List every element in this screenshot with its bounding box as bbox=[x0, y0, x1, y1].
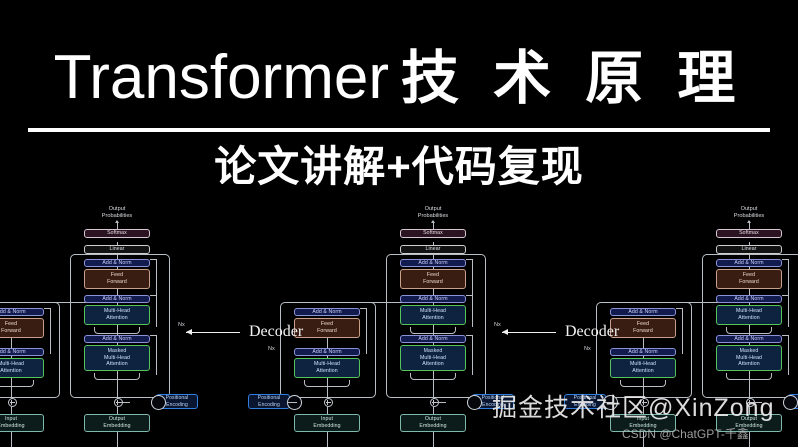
residual-arc-2 bbox=[726, 327, 772, 334]
feed-forward-box-enc: Feed Forward bbox=[0, 318, 44, 338]
softmax-box: Softmax bbox=[400, 229, 466, 238]
masked-multi-head-attention-box: Masked Multi-Head Attention bbox=[84, 345, 150, 371]
feed-forward-box-dec: Feed Forward bbox=[716, 269, 782, 289]
residual-bypass-top-1 bbox=[466, 259, 473, 260]
embed-line-3 bbox=[433, 432, 434, 447]
add-norm-box-enc-1: Add & Norm bbox=[610, 348, 676, 356]
output-arrow-icon bbox=[115, 220, 119, 223]
residual-arc-1 bbox=[726, 373, 772, 380]
add-norm-box-dec-3: Add & Norm bbox=[716, 259, 782, 267]
residual-arc-0 bbox=[0, 380, 34, 387]
linear-box: Linear bbox=[84, 245, 150, 254]
decoder-arrow-icon-1 bbox=[186, 332, 240, 333]
residual-bypass-top-2 bbox=[466, 295, 473, 296]
page-subtitle: 论文讲解+代码复现 bbox=[0, 140, 798, 194]
residual-bypass-1 bbox=[156, 259, 157, 295]
embed-line-1 bbox=[433, 406, 434, 414]
add-norm-box-dec-1: Add & Norm bbox=[84, 335, 150, 343]
title-cjk: 技 术 原 理 bbox=[389, 46, 744, 111]
feed-forward-box-dec: Feed Forward bbox=[400, 269, 466, 289]
title-divider bbox=[28, 128, 770, 132]
multi-head-attention-box-enc: Multi-Head Attention bbox=[0, 358, 44, 378]
decoder-callout-label-1: Decoder bbox=[249, 323, 303, 341]
add-norm-box-enc-2: Add & Norm bbox=[0, 308, 44, 316]
decoder-callout-2: Decoder bbox=[502, 323, 619, 341]
residual-bypass-top-2 bbox=[782, 295, 789, 296]
residual-bypass-1 bbox=[472, 259, 473, 295]
add-norm-box-dec-1: Add & Norm bbox=[716, 335, 782, 343]
title-latin: Transformer bbox=[54, 43, 389, 112]
residual-bypass-top-0 bbox=[360, 308, 367, 309]
softmax-box: Softmax bbox=[84, 229, 150, 238]
embed-line-2 bbox=[11, 432, 12, 447]
residual-bypass-top-3 bbox=[150, 335, 157, 336]
residual-add-icon-enc bbox=[8, 398, 17, 407]
output-embedding-box: Output Embedding bbox=[84, 414, 150, 432]
add-norm-box-dec-2: Add & Norm bbox=[400, 295, 466, 303]
residual-bypass-3 bbox=[788, 335, 789, 375]
add-norm-box-enc-2: Add & Norm bbox=[294, 308, 360, 316]
linear-box: Linear bbox=[400, 245, 466, 254]
residual-bypass-0 bbox=[682, 308, 683, 354]
feed-forward-box-enc: Feed Forward bbox=[294, 318, 360, 338]
input-embedding-box: Input Embedding bbox=[294, 414, 360, 432]
output-arrow-icon bbox=[431, 220, 435, 223]
add-norm-box-dec-2: Add & Norm bbox=[716, 295, 782, 303]
decoder-arrow-icon-2 bbox=[502, 332, 556, 333]
residual-bypass-2 bbox=[788, 295, 789, 327]
output-probabilities-label: Output Probabilities bbox=[390, 206, 476, 220]
residual-bypass-2 bbox=[156, 295, 157, 327]
multi-head-attention-box-dec: Multi-Head Attention bbox=[84, 305, 150, 325]
sine-wave-icon-dec bbox=[783, 395, 798, 410]
output-embedding-box: Output Embedding bbox=[400, 414, 466, 432]
add-norm-box-dec-3: Add & Norm bbox=[400, 259, 466, 267]
embed-line-2 bbox=[327, 432, 328, 447]
linear-box: Linear bbox=[716, 245, 782, 254]
sine-wave-icon-dec bbox=[467, 395, 482, 410]
decoder-callout-label-2: Decoder bbox=[565, 323, 619, 341]
residual-bypass-2 bbox=[472, 295, 473, 327]
feed-forward-box-dec: Feed Forward bbox=[84, 269, 150, 289]
residual-bypass-top-2 bbox=[150, 295, 157, 296]
residual-bypass-top-0 bbox=[44, 308, 51, 309]
embed-line-3 bbox=[117, 432, 118, 447]
residual-bypass-top-1 bbox=[150, 259, 157, 260]
residual-arc-1 bbox=[94, 373, 140, 380]
residual-bypass-top-0 bbox=[676, 308, 683, 309]
residual-bypass-0 bbox=[366, 308, 367, 354]
sine-wave-icon-dec bbox=[151, 395, 166, 410]
output-probabilities-label: Output Probabilities bbox=[706, 206, 792, 220]
add-norm-box-dec-3: Add & Norm bbox=[84, 259, 150, 267]
residual-bypass-top-3 bbox=[466, 335, 473, 336]
add-norm-box-enc-1: Add & Norm bbox=[294, 348, 360, 356]
input-embedding-box: Input Embedding bbox=[0, 414, 44, 432]
embed-line-0 bbox=[11, 406, 12, 414]
screenshot-canvas: SoftmaxLinearAdd & NormFeed ForwardAdd &… bbox=[0, 0, 798, 447]
embed-line-3 bbox=[749, 432, 750, 447]
residual-bypass-top-1 bbox=[782, 259, 789, 260]
positional-encoding-box-enc: Positional Encoding bbox=[248, 394, 290, 409]
embed-line-1 bbox=[117, 406, 118, 414]
output-arrow-icon bbox=[747, 220, 751, 223]
masked-multi-head-attention-box: Masked Multi-Head Attention bbox=[716, 345, 782, 371]
posenc-link-enc bbox=[287, 402, 297, 403]
nx-label-decoder: Nx bbox=[494, 322, 501, 328]
residual-arc-2 bbox=[410, 327, 456, 334]
softmax-box: Softmax bbox=[716, 229, 782, 238]
nx-label-encoder: Nx bbox=[268, 346, 275, 352]
watermark-csdn: CSDN @ChatGPT-千鑫 bbox=[622, 427, 749, 442]
feed-forward-box-enc: Feed Forward bbox=[610, 318, 676, 338]
residual-arc-1 bbox=[410, 373, 456, 380]
nx-label-encoder: Nx bbox=[584, 346, 591, 352]
residual-bypass-3 bbox=[156, 335, 157, 375]
add-norm-box-enc-2: Add & Norm bbox=[610, 308, 676, 316]
add-norm-box-dec-1: Add & Norm bbox=[400, 335, 466, 343]
watermark-channel: 掘金技术社区@XinZong bbox=[492, 392, 775, 424]
multi-head-attention-box-enc: Multi-Head Attention bbox=[294, 358, 360, 378]
posenc-link-dec bbox=[120, 402, 130, 403]
posenc-link-dec bbox=[436, 402, 446, 403]
masked-multi-head-attention-box: Masked Multi-Head Attention bbox=[400, 345, 466, 371]
add-norm-box-dec-2: Add & Norm bbox=[84, 295, 150, 303]
embed-line-0 bbox=[327, 406, 328, 414]
residual-bypass-3 bbox=[472, 335, 473, 375]
multi-head-attention-box-dec: Multi-Head Attention bbox=[716, 305, 782, 325]
transformer-diagram-1: SoftmaxLinearAdd & NormFeed ForwardAdd &… bbox=[0, 196, 262, 447]
residual-bypass-top-3 bbox=[782, 335, 789, 336]
output-probabilities-label: Output Probabilities bbox=[74, 206, 160, 220]
residual-arc-0 bbox=[620, 380, 666, 387]
residual-arc-2 bbox=[94, 327, 140, 334]
multi-head-attention-box-enc: Multi-Head Attention bbox=[610, 358, 676, 378]
decoder-callout-1: Decoder bbox=[186, 323, 303, 341]
title-banner: Transformer技 术 原 理 论文讲解+代码复现 bbox=[0, 0, 798, 196]
residual-bypass-0 bbox=[50, 308, 51, 354]
nx-label-decoder: Nx bbox=[178, 322, 185, 328]
residual-arc-0 bbox=[304, 380, 350, 387]
residual-bypass-1 bbox=[788, 259, 789, 295]
page-title: Transformer技 术 原 理 bbox=[0, 42, 798, 115]
residual-add-icon-enc bbox=[324, 398, 333, 407]
add-norm-box-enc-1: Add & Norm bbox=[0, 348, 44, 356]
multi-head-attention-box-dec: Multi-Head Attention bbox=[400, 305, 466, 325]
